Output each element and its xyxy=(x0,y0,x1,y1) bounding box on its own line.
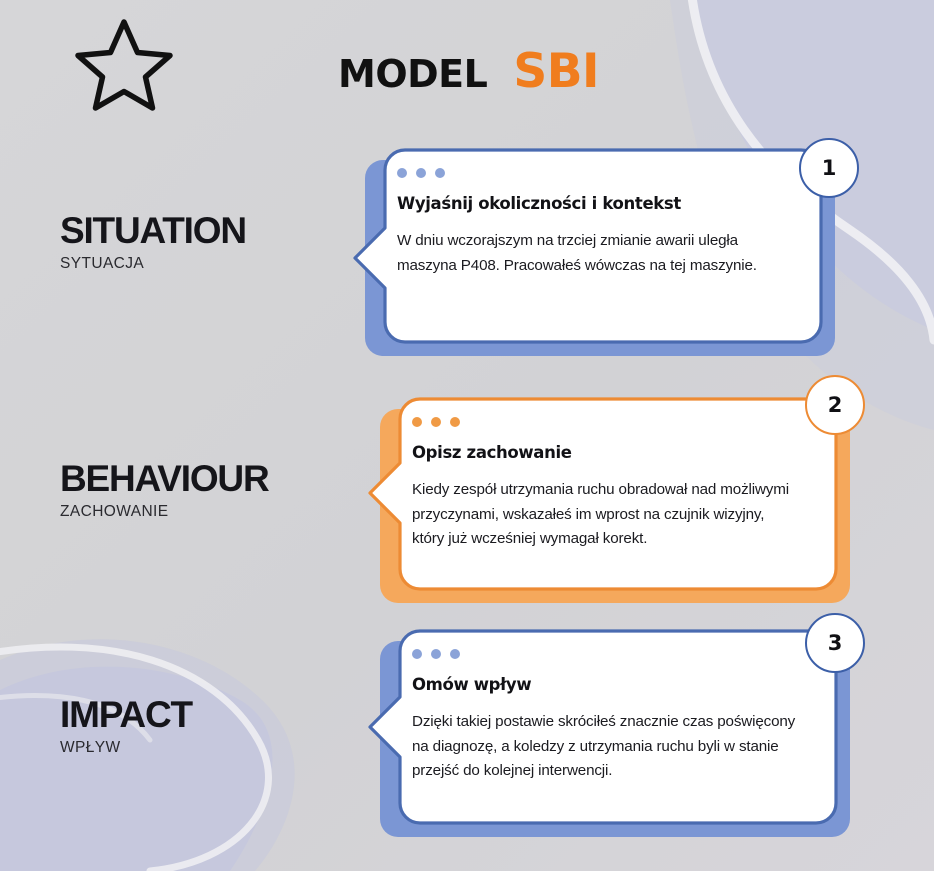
three-dots-icon xyxy=(412,649,800,659)
stage-label-behaviour-en: BEHAVIOUR xyxy=(60,460,268,497)
card-impact-heading: Omów wpływ xyxy=(412,675,800,694)
stage-label-impact: IMPACT WPŁYW xyxy=(60,696,192,757)
title-model-word: MODEL xyxy=(338,52,487,96)
three-dots-icon xyxy=(412,417,800,427)
star-outline-icon xyxy=(74,16,174,112)
stage-label-impact-en: IMPACT xyxy=(60,696,192,733)
three-dots-icon xyxy=(397,168,785,178)
step-badge-3: 3 xyxy=(805,613,865,673)
step-badge-2: 2 xyxy=(805,375,865,435)
card-behaviour: Opisz zachowanie Kiedy zespół utrzymania… xyxy=(368,397,838,591)
stage-label-situation: SITUATION SYTUACJA xyxy=(60,212,246,273)
page-title: MODEL SBI xyxy=(338,44,599,99)
card-situation-content: Wyjaśnij okoliczności i kontekst W dniu … xyxy=(353,148,823,344)
card-behaviour-body: Kiedy zespół utrzymania ruchu obradował … xyxy=(412,478,800,552)
card-impact: Omów wpływ Dzięki takiej postawie skróci… xyxy=(368,629,838,825)
stage-label-situation-en: SITUATION xyxy=(60,212,246,249)
stage-label-behaviour: BEHAVIOUR ZACHOWANIE xyxy=(60,460,268,521)
card-impact-content: Omów wpływ Dzięki takiej postawie skróci… xyxy=(368,629,838,825)
stage-label-impact-pl: WPŁYW xyxy=(60,739,192,757)
stage-label-situation-pl: SYTUACJA xyxy=(60,255,246,273)
card-situation-heading: Wyjaśnij okoliczności i kontekst xyxy=(397,194,785,213)
card-situation: Wyjaśnij okoliczności i kontekst W dniu … xyxy=(353,148,823,344)
card-behaviour-content: Opisz zachowanie Kiedy zespół utrzymania… xyxy=(368,397,838,591)
card-behaviour-heading: Opisz zachowanie xyxy=(412,443,800,462)
stage-label-behaviour-pl: ZACHOWANIE xyxy=(60,503,268,521)
step-badge-1: 1 xyxy=(799,138,859,198)
card-situation-body: W dniu wczorajszym na trzciej zmianie aw… xyxy=(397,229,785,278)
title-sbi-word: SBI xyxy=(513,44,599,99)
card-impact-body: Dzięki takiej postawie skróciłeś znaczni… xyxy=(412,710,800,784)
